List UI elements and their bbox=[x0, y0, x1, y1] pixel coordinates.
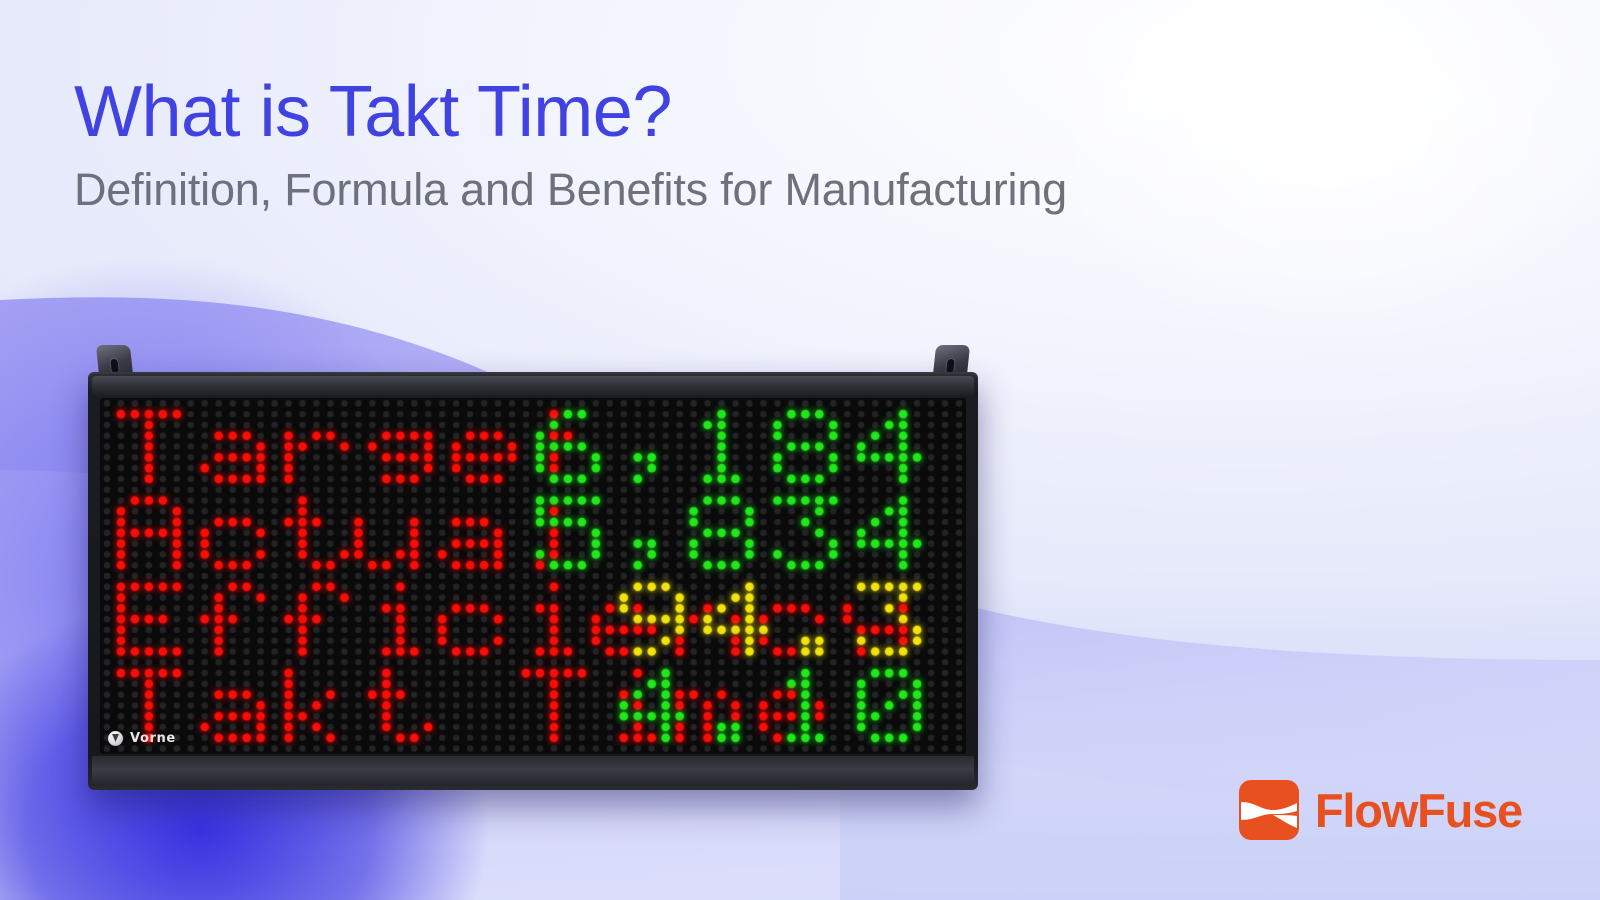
vorne-branding: Vorne bbox=[108, 731, 176, 746]
led-sign-top-bezel bbox=[92, 376, 974, 396]
flowfuse-wordmark: FlowFuse bbox=[1315, 787, 1522, 834]
led-matrix-panel bbox=[100, 398, 966, 754]
heading-block: What is Takt Time? Definition, Formula a… bbox=[74, 76, 1524, 215]
led-matrix-canvas bbox=[100, 398, 966, 754]
led-sign-bottom-bezel bbox=[92, 756, 974, 786]
flowfuse-mark-icon bbox=[1239, 780, 1299, 840]
led-sign-body: Vorne bbox=[88, 372, 978, 790]
led-sign: Vorne bbox=[88, 345, 978, 805]
vorne-label: Vorne bbox=[130, 731, 176, 746]
poster-canvas: What is Takt Time? Definition, Formula a… bbox=[0, 0, 1600, 900]
page-title: What is Takt Time? bbox=[74, 76, 1524, 149]
page-subtitle: Definition, Formula and Benefits for Man… bbox=[74, 165, 1524, 215]
vorne-logo-icon bbox=[108, 731, 123, 746]
flowfuse-logo[interactable]: FlowFuse bbox=[1239, 780, 1522, 840]
